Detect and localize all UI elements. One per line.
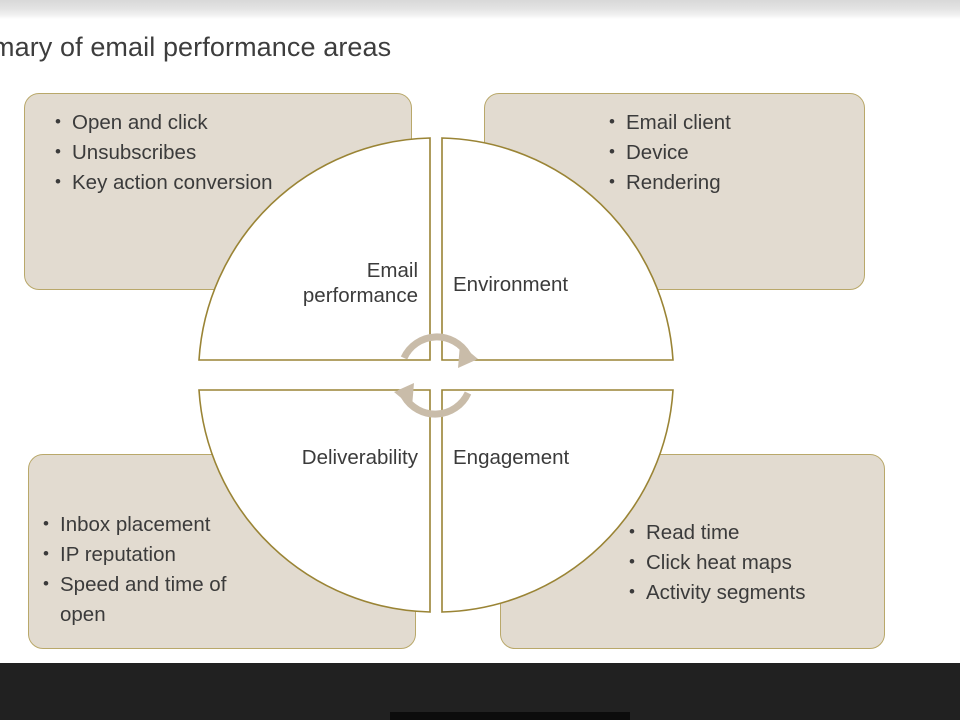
quadrant-label-environment: Environment	[453, 272, 683, 297]
quadrant-label-email-performance: Email performance	[190, 258, 418, 308]
quadrant-shape-environment[interactable]	[442, 138, 673, 360]
quadrant-circle-diagram	[190, 128, 682, 622]
quadrant-label-engagement: Engagement	[453, 445, 683, 470]
bottom-chrome-inset	[390, 712, 630, 720]
quadrant-label-line-2: performance	[303, 284, 418, 307]
top-gradient-strip	[0, 0, 960, 19]
page-title: mary of email performance areas	[0, 32, 692, 63]
circular-rotation-arrows-icon	[394, 337, 478, 414]
quadrant-label-line-1: Email	[367, 259, 418, 282]
quadrant-shape-email-performance[interactable]	[199, 138, 430, 360]
quadrant-shape-deliverability[interactable]	[199, 390, 430, 612]
presentation-slide: mary of email performance areas Open and…	[0, 0, 960, 720]
quadrant-label-deliverability: Deliverability	[190, 445, 418, 470]
quadrant-shape-engagement[interactable]	[442, 390, 673, 612]
